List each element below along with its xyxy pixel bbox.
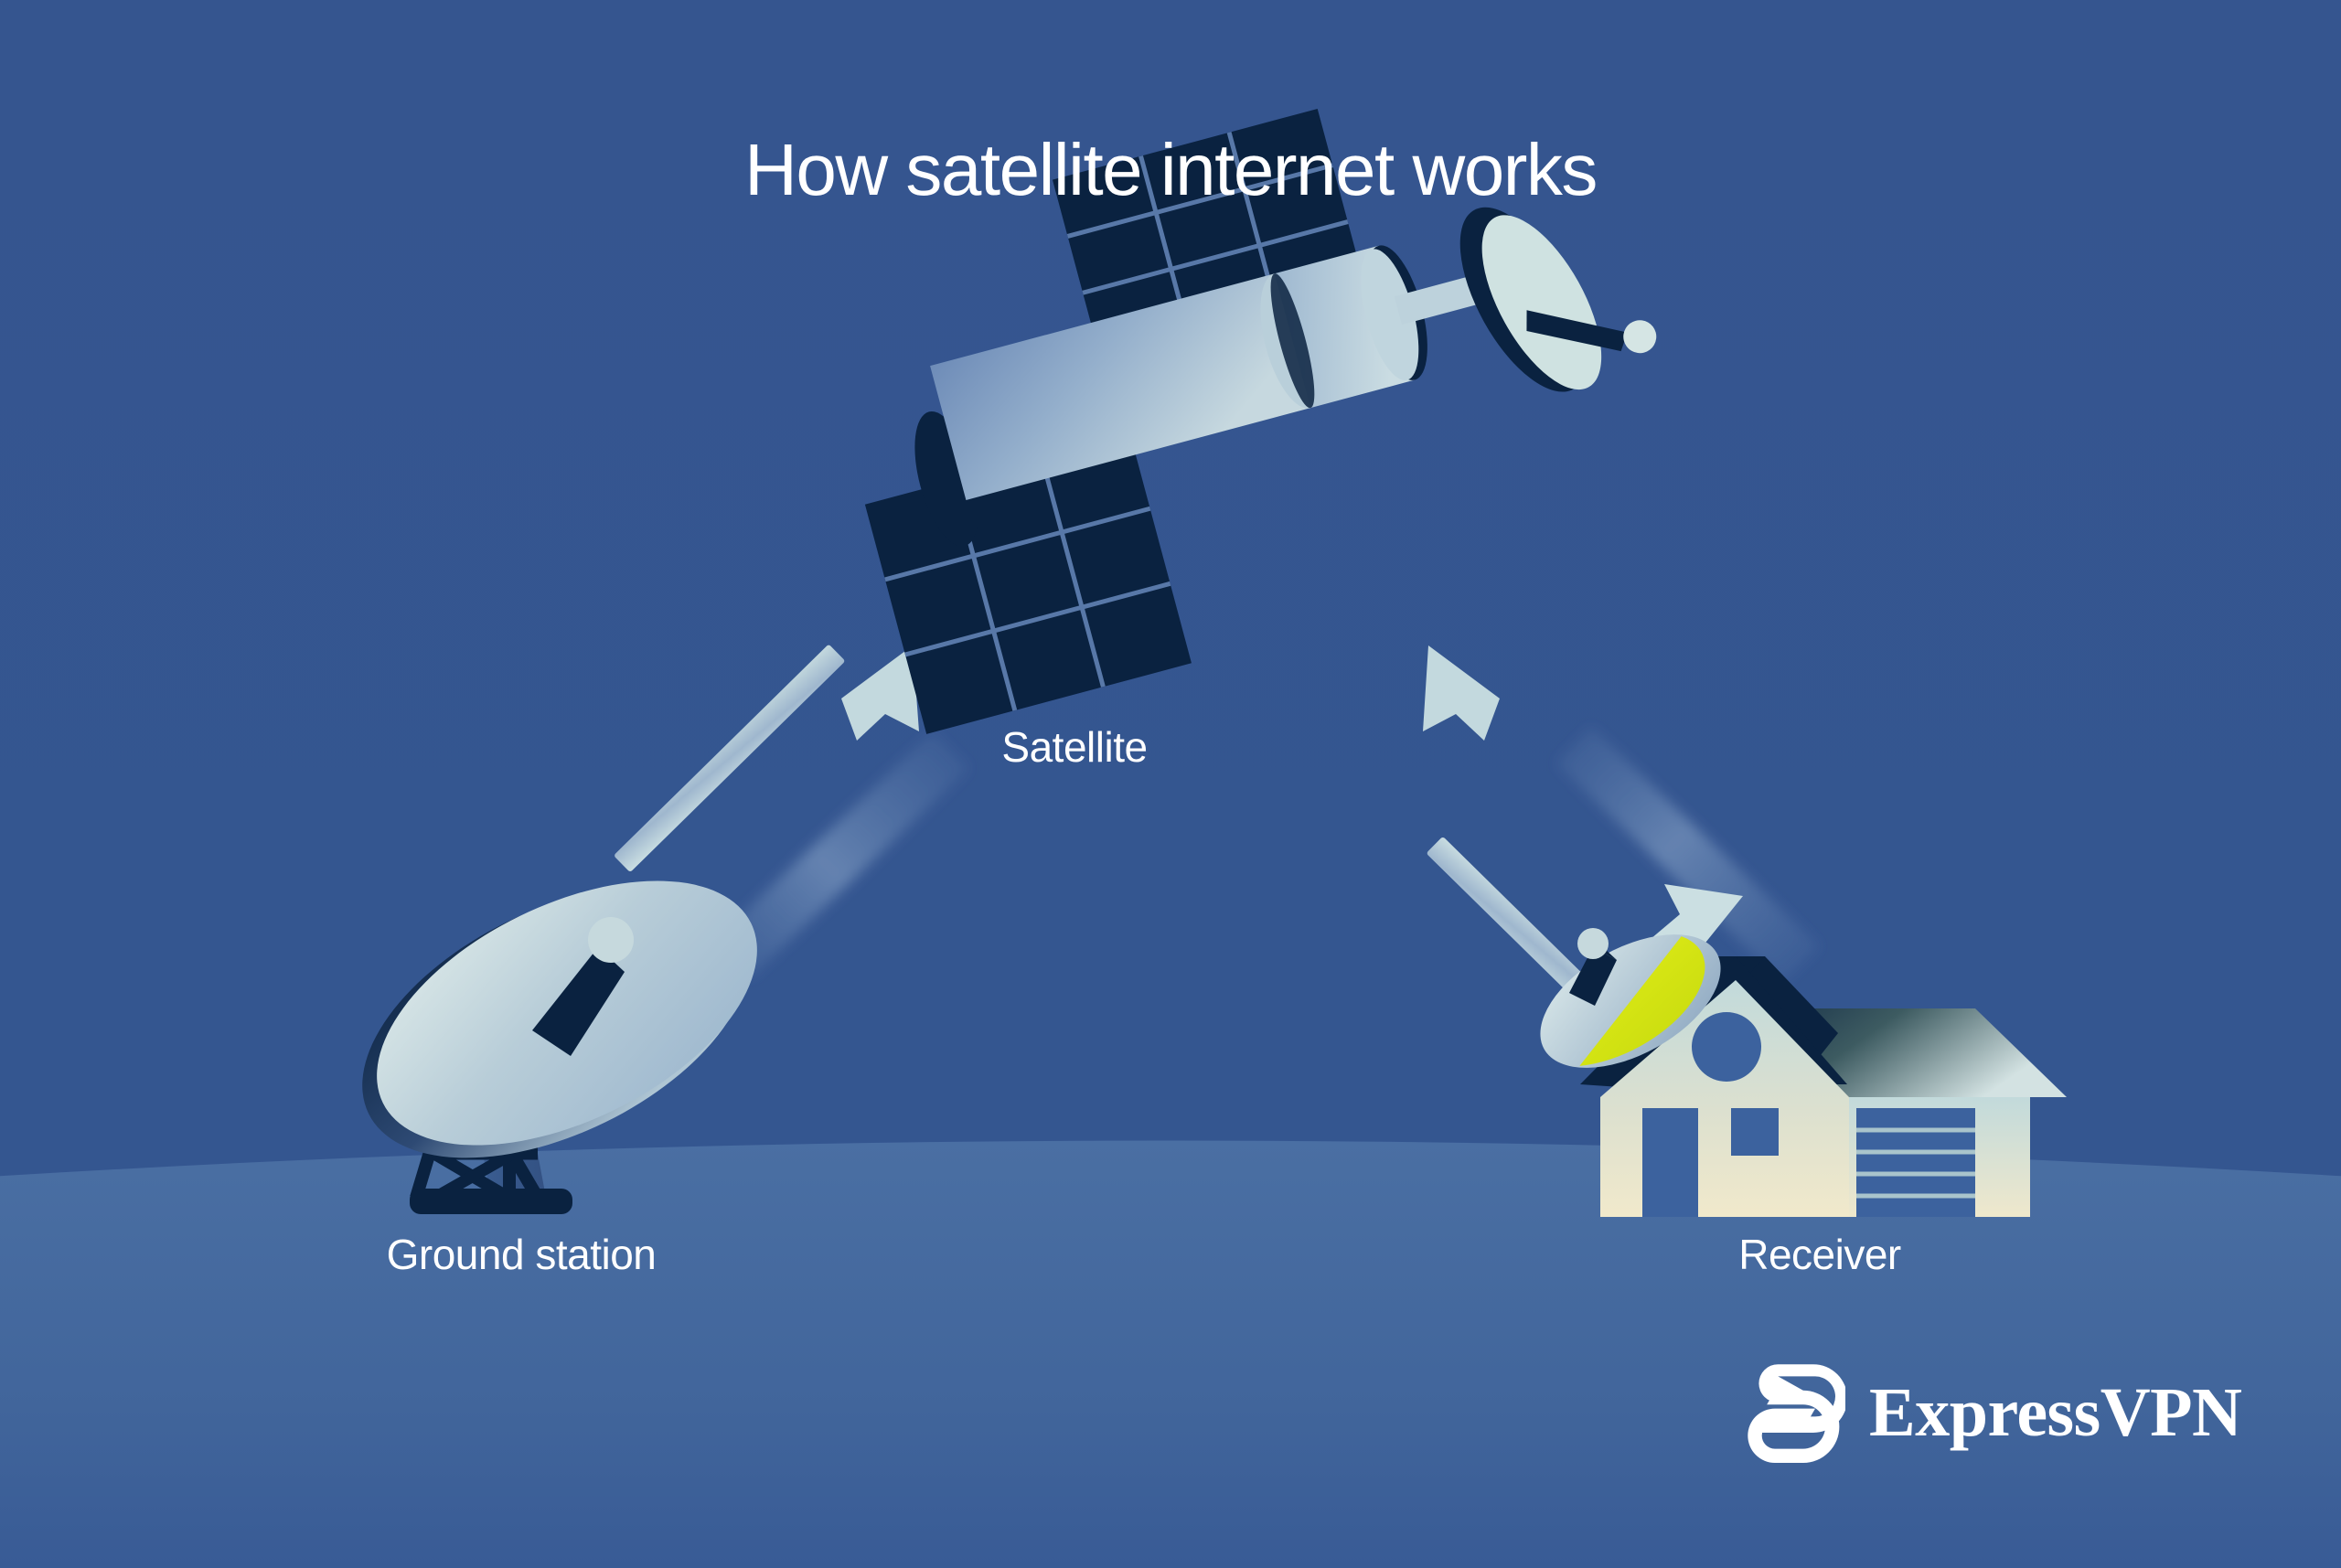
garage-door <box>1856 1108 1975 1217</box>
ground-station-base <box>410 1189 572 1214</box>
infographic-canvas: How satellite internet works Satellite G… <box>0 0 2341 1568</box>
house-window <box>1731 1108 1779 1156</box>
satellite-internet-scene <box>0 0 2341 1568</box>
house-round-window <box>1692 1012 1761 1082</box>
ground-station-feed-tip <box>588 917 634 963</box>
house-dish-feed-tip <box>1577 928 1609 959</box>
house-door <box>1642 1108 1698 1217</box>
